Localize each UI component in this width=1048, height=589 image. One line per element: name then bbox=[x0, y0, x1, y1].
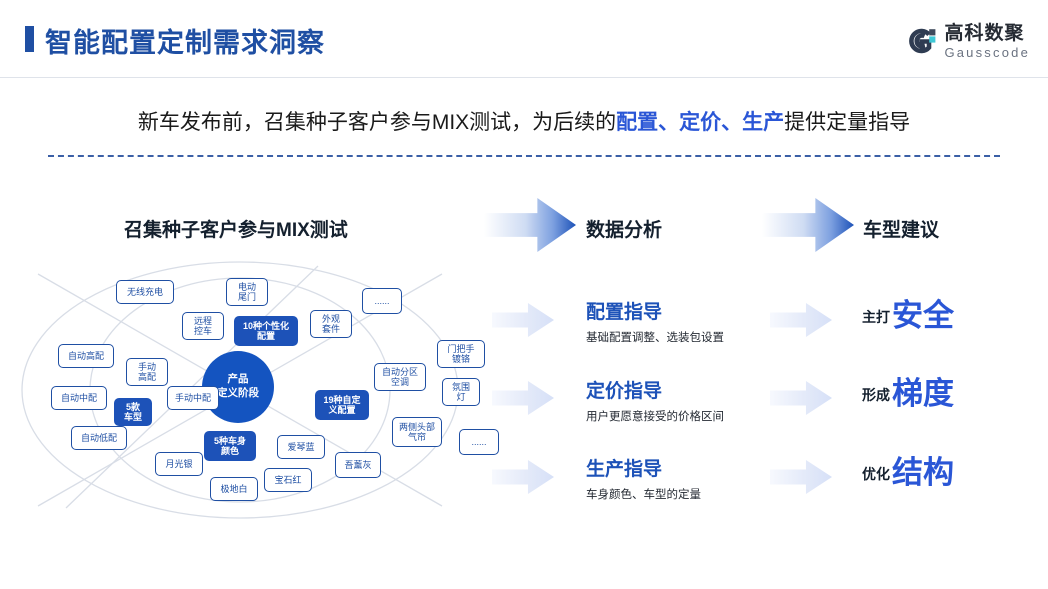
diagram-attribute-node: 自动高配 bbox=[58, 344, 114, 368]
analysis-desc: 车身颜色、车型的定量 bbox=[586, 486, 816, 502]
advice-item-safety: 主打 安全 bbox=[862, 300, 954, 331]
diagram-attribute-node: ...... bbox=[459, 429, 499, 455]
title-accent-bar bbox=[25, 26, 34, 52]
brand-logo: 高科数聚 Gausscode bbox=[907, 20, 1030, 62]
diagram-attribute-node: 自动分区 空调 bbox=[374, 363, 426, 391]
subtitle-highlight: 配置、定价、生产 bbox=[616, 111, 784, 134]
diagram-attribute-node: 爱琴蓝 bbox=[277, 435, 325, 459]
logo-text-en: Gausscode bbox=[944, 46, 1030, 59]
diagram-attribute-node: 手动 高配 bbox=[126, 358, 168, 386]
analysis-item-configuration: 配置指导 基础配置调整、选装包设置 bbox=[586, 302, 816, 345]
analysis-desc: 基础配置调整、选装包设置 bbox=[586, 329, 816, 345]
diagram-attribute-node: 月光银 bbox=[155, 452, 203, 476]
flow-arrow-icon-1 bbox=[484, 198, 576, 252]
diagram-attribute-node: 手动中配 bbox=[167, 386, 219, 410]
row-arrow-icon-2a bbox=[492, 381, 554, 415]
logo-text-cn: 高科数聚 bbox=[944, 24, 1030, 43]
diagram-category-node: 5种车身 颜色 bbox=[204, 431, 256, 461]
flow-arrow-icon-2 bbox=[762, 198, 854, 252]
diagram-attribute-node: 门把手 镀铬 bbox=[437, 340, 485, 368]
diagram-attribute-node: 无线充电 bbox=[116, 280, 174, 304]
analysis-title: 配置指导 bbox=[586, 302, 816, 324]
row-arrow-icon-3a bbox=[492, 460, 554, 494]
diagram-attribute-node: 两侧头部 气帘 bbox=[392, 417, 442, 447]
page-title: 智能配置定制需求洞察 bbox=[45, 21, 325, 60]
gausscode-logo-icon bbox=[907, 26, 937, 56]
section-divider bbox=[48, 155, 1000, 157]
diagram-attribute-node: 外观 套件 bbox=[310, 310, 352, 338]
column-header-mix-test: 召集种子客户参与MIX测试 bbox=[124, 215, 348, 242]
advice-prefix: 形成 bbox=[862, 385, 890, 409]
page-header: 智能配置定制需求洞察 高科数聚 Gausscode bbox=[0, 0, 1048, 78]
subtitle: 新车发布前，召集种子客户参与MIX测试，为后续的配置、定价、生产提供定量指导 bbox=[0, 106, 1048, 136]
subtitle-part2: 提供定量指导 bbox=[784, 111, 910, 134]
analysis-title: 生产指导 bbox=[586, 459, 816, 481]
advice-keyword: 安全 bbox=[892, 300, 954, 331]
analysis-title: 定价指导 bbox=[586, 381, 816, 403]
advice-keyword: 梯度 bbox=[892, 378, 954, 409]
product-definition-diagram: 产品 定义阶段 无线充电电动 尾门......远程 控车10种个性化 配置外观 … bbox=[18, 258, 498, 540]
diagram-attribute-node: 极地白 bbox=[210, 477, 258, 501]
column-header-data-analysis: 数据分析 bbox=[586, 215, 662, 242]
advice-item-tier: 形成 梯度 bbox=[862, 378, 954, 409]
column-header-model-advice: 车型建议 bbox=[863, 215, 939, 242]
analysis-item-production: 生产指导 车身颜色、车型的定量 bbox=[586, 459, 816, 502]
diagram-attribute-node: 吾薰灰 bbox=[335, 452, 381, 478]
advice-item-structure: 优化 结构 bbox=[862, 457, 954, 488]
diagram-category-node: 19种自定 义配置 bbox=[315, 390, 369, 420]
diagram-attribute-node: ...... bbox=[362, 288, 402, 314]
analysis-item-pricing: 定价指导 用户更愿意接受的价格区间 bbox=[586, 381, 816, 424]
diagram-attribute-node: 自动中配 bbox=[51, 386, 107, 410]
diagram-attribute-node: 远程 控车 bbox=[182, 312, 224, 340]
analysis-desc: 用户更愿意接受的价格区间 bbox=[586, 408, 816, 424]
advice-prefix: 优化 bbox=[862, 464, 890, 488]
diagram-category-node: 5款 车型 bbox=[114, 398, 152, 426]
row-arrow-icon-1a bbox=[492, 303, 554, 337]
diagram-attribute-node: 宝石红 bbox=[264, 468, 312, 492]
advice-keyword: 结构 bbox=[892, 457, 954, 488]
advice-prefix: 主打 bbox=[862, 307, 890, 331]
diagram-attribute-node: 电动 尾门 bbox=[226, 278, 268, 306]
subtitle-part1: 新车发布前，召集种子客户参与MIX测试，为后续的 bbox=[138, 111, 616, 134]
diagram-category-node: 10种个性化 配置 bbox=[234, 316, 298, 346]
diagram-attribute-node: 氛围 灯 bbox=[442, 378, 480, 406]
diagram-attribute-node: 自动低配 bbox=[71, 426, 127, 450]
